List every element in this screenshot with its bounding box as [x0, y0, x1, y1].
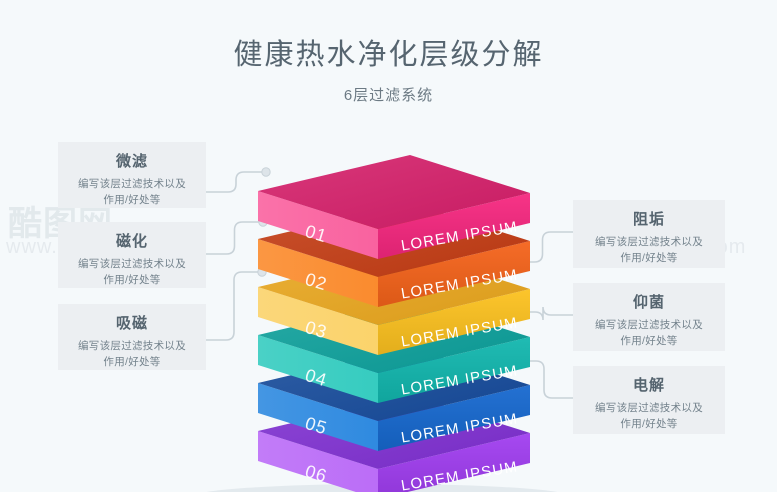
card-title: 阻垢 — [583, 208, 715, 229]
info-card-right-3[interactable]: 电解 编写该层过滤技术以及 作用/好处等 — [573, 366, 725, 434]
card-description-line1: 编写该层过滤技术以及 — [583, 318, 715, 334]
card-title: 磁化 — [68, 230, 196, 251]
card-description-line2: 作用/好处等 — [583, 334, 715, 350]
card-title: 仰菌 — [583, 291, 715, 312]
info-card-right-2[interactable]: 仰菌 编写该层过滤技术以及 作用/好处等 — [573, 283, 725, 351]
info-card-left-3[interactable]: 吸磁 编写该层过滤技术以及 作用/好处等 — [58, 304, 206, 370]
card-description-line1: 编写该层过滤技术以及 — [583, 401, 715, 417]
card-description-line2: 作用/好处等 — [68, 193, 196, 209]
info-card-right-1[interactable]: 阻垢 编写该层过滤技术以及 作用/好处等 — [573, 200, 725, 268]
card-description-line1: 编写该层过滤技术以及 — [583, 235, 715, 251]
card-description-line1: 编写该层过滤技术以及 — [68, 177, 196, 193]
card-description-line1: 编写该层过滤技术以及 — [68, 339, 196, 355]
card-title: 微滤 — [68, 150, 196, 171]
card-title: 电解 — [583, 374, 715, 395]
info-card-left-2[interactable]: 磁化 编写该层过滤技术以及 作用/好处等 — [58, 222, 206, 288]
card-description-line2: 作用/好处等 — [68, 355, 196, 371]
info-card-left-1[interactable]: 微滤 编写该层过滤技术以及 作用/好处等 — [58, 142, 206, 208]
card-description-line1: 编写该层过滤技术以及 — [68, 257, 196, 273]
card-description-line2: 作用/好处等 — [68, 273, 196, 289]
card-description-line2: 作用/好处等 — [583, 251, 715, 267]
infographic-canvas: 酷图网www.ikutu.com酷图网www.ikutu.com酷图网www.i… — [0, 0, 777, 492]
card-description-line2: 作用/好处等 — [583, 417, 715, 433]
card-title: 吸磁 — [68, 312, 196, 333]
